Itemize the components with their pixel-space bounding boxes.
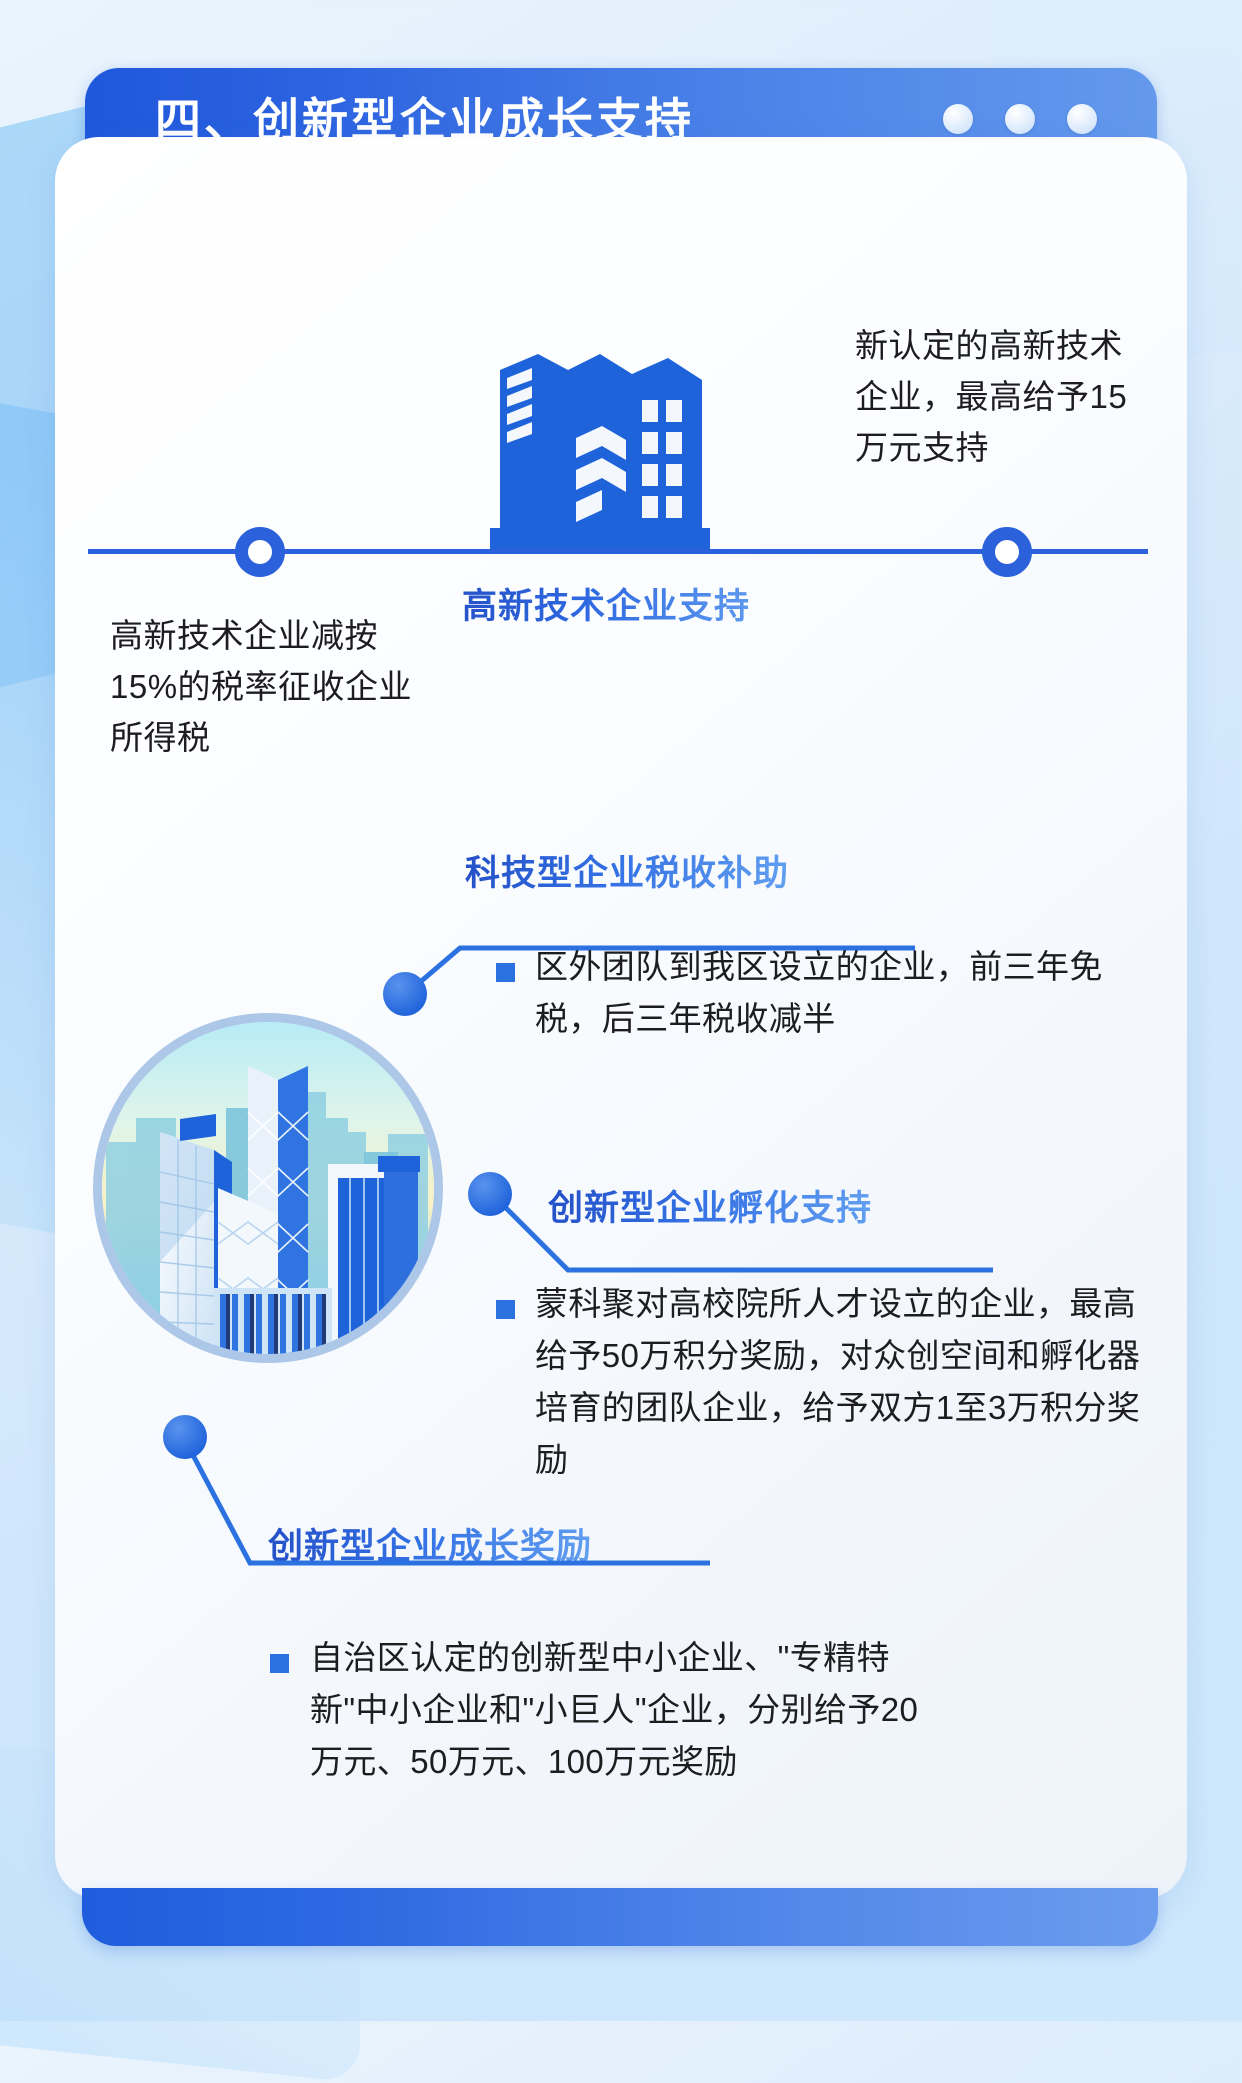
timeline-right-text: 新认定的高新技术企业，最高给予15万元支持 [855,320,1155,473]
header-decor-dots [943,104,1097,134]
footer-bar [82,1888,1158,1946]
city-skyline-illustration [93,1013,443,1363]
office-building-icon [490,322,710,552]
header-dot-icon-3 [1067,104,1097,134]
header-dot-icon-2 [1005,104,1035,134]
section-bullet-3 [270,1654,289,1673]
section-body-1: 区外团队到我区设立的企业，前三年免税，后三年税收减半 [535,941,1135,1045]
section-knob-2 [468,1172,512,1216]
section-bullet-1 [496,963,515,982]
timeline-node-left [235,527,285,577]
timeline-label: 高新技术企业支持 [462,578,750,629]
section-body-3: 自治区认定的创新型中小企业、"专精特新"中小企业和"小巨人"企业，分别给予20万… [310,1632,930,1788]
section-connector-2 [458,1165,998,1285]
header-dot-icon-1 [943,104,973,134]
section-connector-3 [155,1405,715,1600]
timeline-node-right [982,527,1032,577]
section-knob-1 [383,972,427,1016]
timeline-left-text: 高新技术企业减按15%的税率征收企业所得税 [110,610,420,763]
section-bullet-2 [496,1300,515,1319]
section-knob-3 [163,1415,207,1459]
